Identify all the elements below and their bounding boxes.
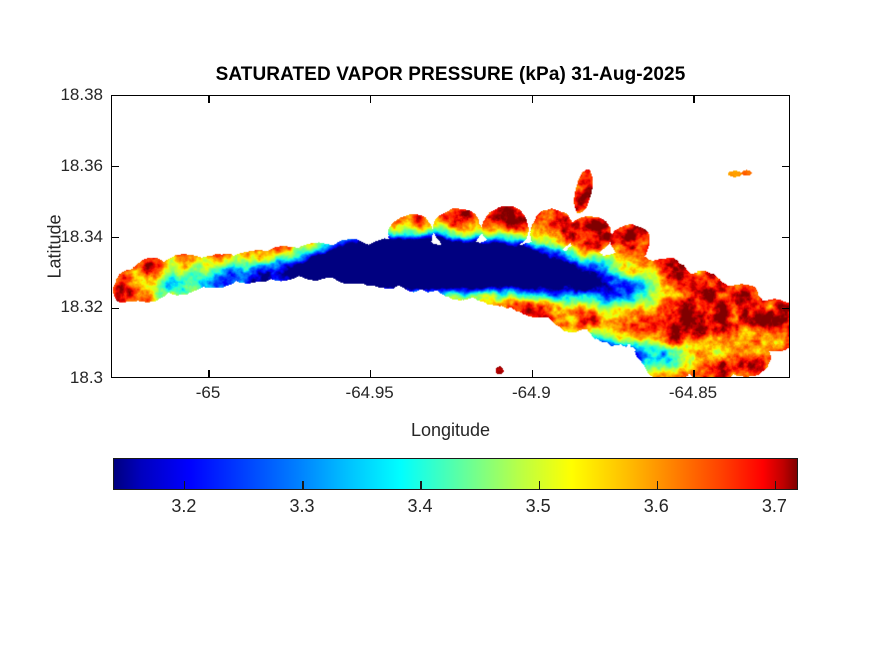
colorbar-tick-mark [775,481,776,489]
colorbar-tick-label: 3.3 [289,496,314,517]
x-tick-mark [693,96,694,103]
page-title: SATURATED VAPOR PRESSURE (kPa) 31-Aug-20… [111,64,790,86]
x-tick-mark [208,96,209,103]
y-tick-mark [112,308,119,309]
figure-canvas: SATURATED VAPOR PRESSURE (kPa) 31-Aug-20… [0,0,875,656]
x-tick-label: -64.95 [346,383,394,403]
y-tick-label: 18.36 [60,156,103,176]
y-tick-label: 18.34 [60,227,103,247]
colorbar-tick-label: 3.5 [526,496,551,517]
x-axis-label: Longitude [111,420,790,441]
x-tick-mark [370,96,371,103]
colorbar[interactable] [113,458,798,490]
colorbar-tick-label: 3.6 [644,496,669,517]
x-tick-mark [532,96,533,103]
y-tick-mark [782,237,789,238]
colorbar-tick-mark [539,481,540,489]
x-tick-mark [693,370,694,377]
x-tick-mark [532,370,533,377]
colorbar-tick-mark [420,481,421,489]
colorbar-tick-mark [184,481,185,489]
map-axes [111,95,790,378]
x-tick-mark [208,370,209,377]
y-tick-mark [782,166,789,167]
colorbar-tick-label: 3.4 [408,496,433,517]
y-tick-label: 18.3 [70,368,103,388]
y-tick-mark [112,237,119,238]
vapor-pressure-heatmap [112,96,789,377]
x-tick-label: -64.9 [512,383,551,403]
y-tick-label: 18.38 [60,85,103,105]
y-axis-label: Latitude [45,187,66,307]
y-tick-label: 18.32 [60,297,103,317]
x-tick-mark [370,370,371,377]
colorbar-tick-label: 3.2 [171,496,196,517]
colorbar-tick-mark [657,481,658,489]
colorbar-tick-mark [302,481,303,489]
y-tick-mark [782,308,789,309]
colorbar-tick-label: 3.7 [762,496,787,517]
x-tick-label: -65 [196,383,221,403]
x-tick-label: -64.85 [669,383,717,403]
colorbar-gradient [113,458,798,490]
y-tick-mark [112,166,119,167]
